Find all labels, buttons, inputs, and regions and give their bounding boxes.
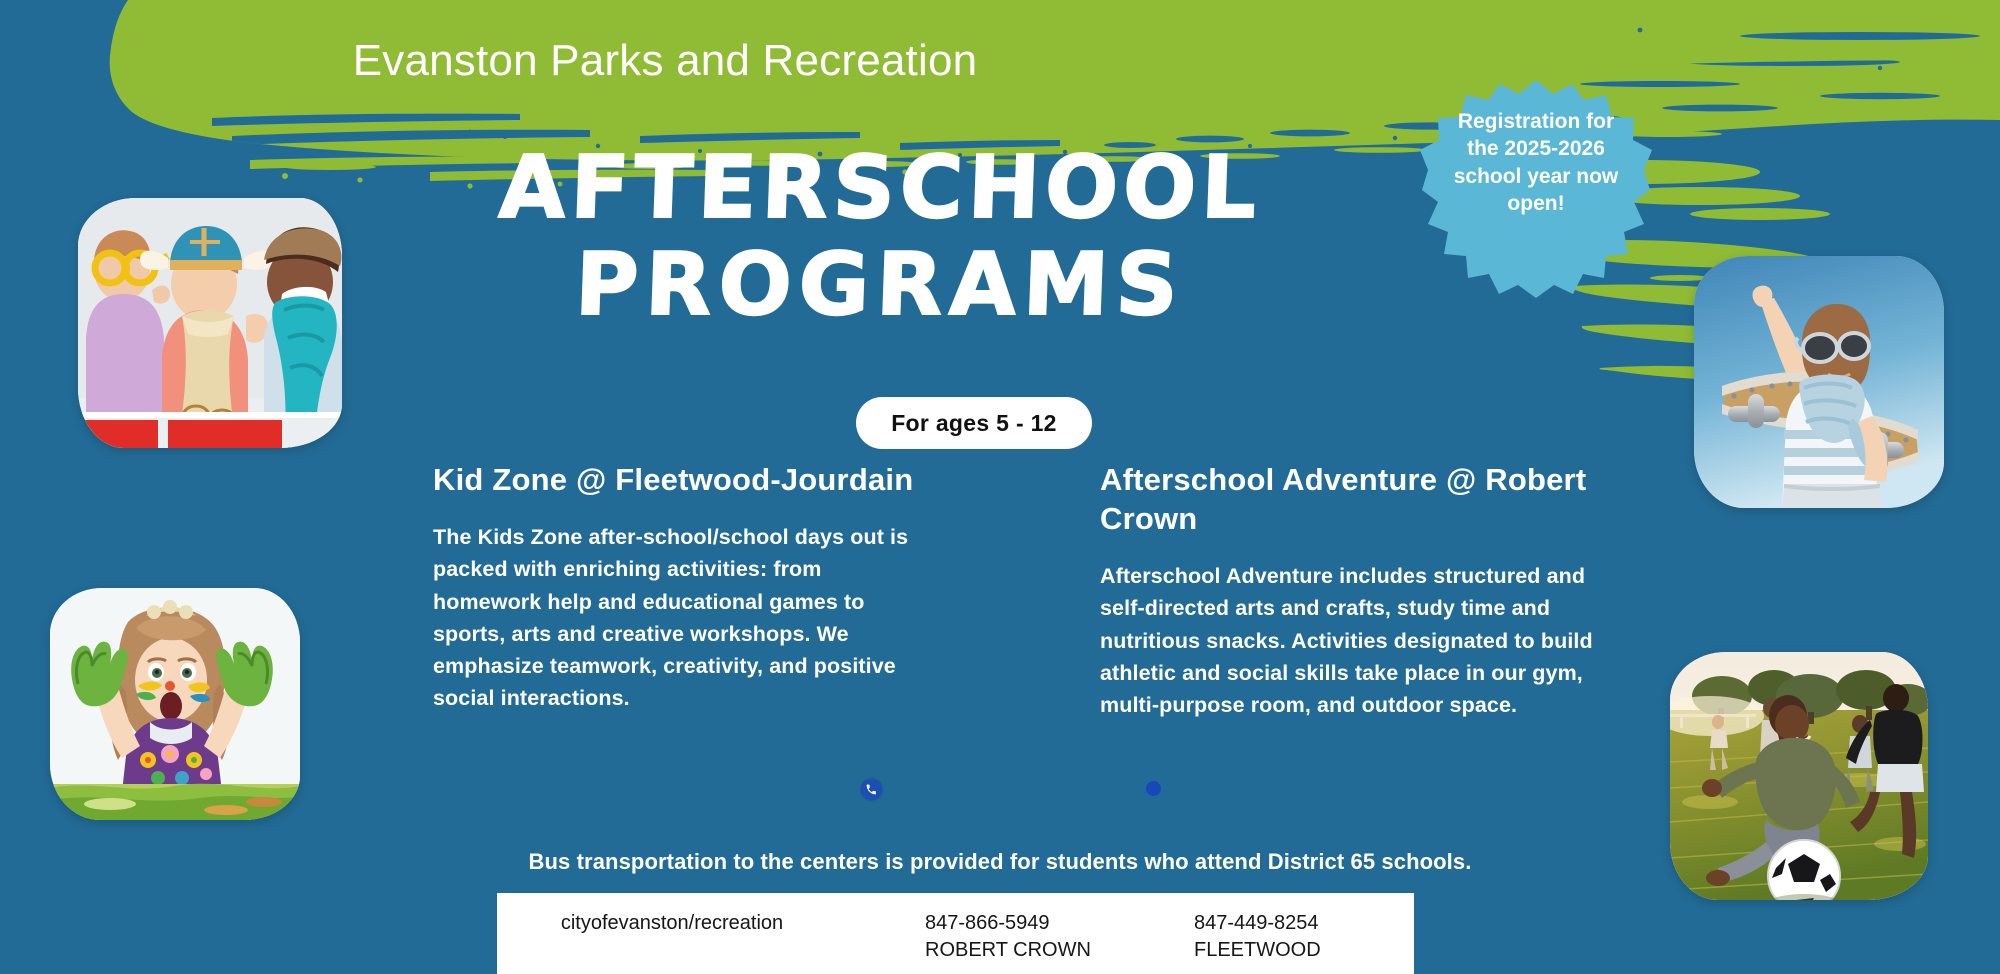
program-title: Kid Zone @ Fleetwood-Jourdain <box>433 460 933 499</box>
program-title: Afterschool Adventure @ Robert Crown <box>1100 460 1600 538</box>
dot-badge-icon[interactable] <box>1146 781 1161 796</box>
program-description: Afterschool Adventure includes structure… <box>1100 560 1600 721</box>
organization-name: Evanston Parks and Recreation <box>0 36 1330 86</box>
flyer-canvas: Evanston Parks and Recreation AFTERSCHOO… <box>0 0 2000 974</box>
registration-badge-label: Registration for the 2025-2026 school ye… <box>1446 108 1626 217</box>
photo-child-aviator <box>1694 256 1944 508</box>
photo-kids-in-costumes <box>78 198 342 448</box>
title-line-1: AFTERSCHOOL <box>478 140 1281 237</box>
page-title: AFTERSCHOOL PROGRAMS <box>480 140 1280 334</box>
registration-badge[interactable]: Registration for the 2025-2026 school ye… <box>1420 78 1652 300</box>
bus-transportation-note: Bus transportation to the centers is pro… <box>0 849 2000 875</box>
site-name: FLEETWOOD <box>1194 937 1414 964</box>
title-line-2: PROGRAMS <box>478 237 1281 334</box>
phone-badge-icon[interactable] <box>861 779 882 800</box>
contact-footer: cityofevanston/recreation 847-866-5949 R… <box>497 893 1414 974</box>
contact-fleetwood[interactable]: 847-449-8254 FLEETWOOD <box>1132 893 1414 964</box>
phone-number: 847-866-5949 <box>925 912 1050 934</box>
program-description: The Kids Zone after-school/school days o… <box>433 521 933 715</box>
phone-number: 847-449-8254 <box>1194 912 1319 934</box>
site-name: ROBERT CROWN <box>925 937 1132 964</box>
photo-girl-finger-painting <box>50 588 300 820</box>
program-column-kid-zone: Kid Zone @ Fleetwood-Jourdain The Kids Z… <box>433 460 933 715</box>
contact-robert-crown[interactable]: 847-866-5949 ROBERT CROWN <box>847 893 1132 964</box>
ages-pill-label: For ages 5 - 12 <box>891 410 1057 437</box>
program-column-afterschool-adventure: Afterschool Adventure @ Robert Crown Aft… <box>1100 460 1600 721</box>
contact-website[interactable]: cityofevanston/recreation <box>497 893 847 937</box>
ages-pill: For ages 5 - 12 <box>856 397 1092 449</box>
